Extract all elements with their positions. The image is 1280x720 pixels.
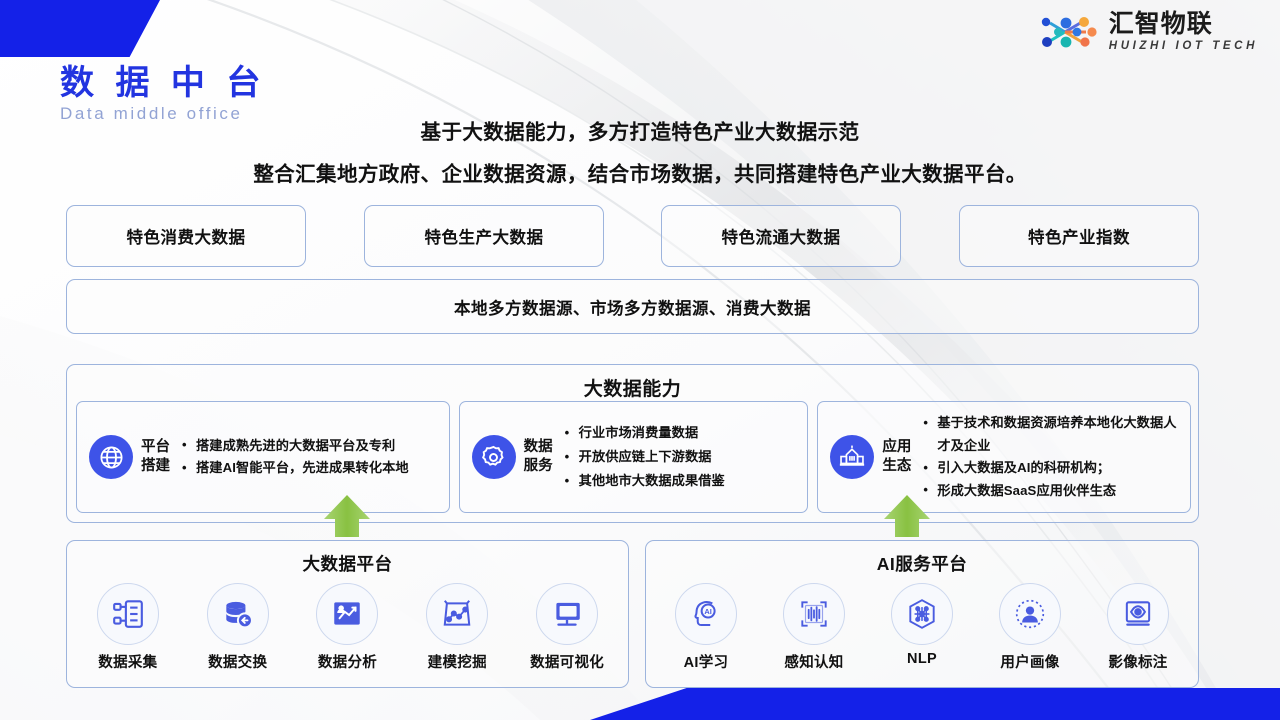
source-box-production[interactable]: 特色生产大数据 [364, 205, 604, 267]
capability-card-label-line1: 数据 [524, 438, 553, 457]
capability-bullet: 搭建AI智能平台，先进成果转化本地 [180, 457, 443, 480]
platform-item-label: 建模挖掘 [428, 651, 487, 672]
platform-item-data-collection[interactable]: 数据采集 [76, 583, 180, 672]
capability-card-label-line1: 应用 [882, 438, 911, 457]
data-visualization-icon [536, 583, 598, 645]
capability-section-title: 大数据能力 [67, 374, 1198, 401]
platform-panel-bigdata: 大数据平台 数据采集 [66, 540, 629, 688]
platform-title: 大数据平台 [67, 551, 628, 576]
capability-card-label: 平台 搭建 [141, 438, 170, 476]
capability-card-bullets: 搭建成熟先进的大数据平台及专利 搭建AI智能平台，先进成果转化本地 [180, 435, 443, 480]
platform-item-perception[interactable]: 感知认知 [762, 583, 866, 672]
datasource-bar[interactable]: 本地多方数据源、市场多方数据源、消费大数据 [66, 279, 1199, 334]
capability-bullet: 开放供应链上下游数据 [563, 445, 802, 469]
capability-card-label-line2: 服务 [524, 457, 553, 476]
datasource-bar-label: 本地多方数据源、市场多方数据源、消费大数据 [454, 295, 811, 319]
capability-card-data-service[interactable]: 数据 服务 行业市场消费量数据 开放供应链上下游数据 其他地市大数据成果借鉴 [459, 401, 809, 513]
green-arrow-right [884, 495, 930, 537]
platform-panel-ai: AI服务平台 AI AI学习 [645, 540, 1199, 688]
brand-logo: 汇智物联 HUIZHI IOT TECH [1038, 10, 1258, 54]
globe-icon [89, 435, 133, 479]
source-box-label: 特色流通大数据 [722, 224, 841, 248]
institution-icon [830, 435, 874, 479]
platform-item-data-analysis[interactable]: 数据分析 [295, 583, 399, 672]
platform-item-modeling-mining[interactable]: 建模挖掘 [405, 583, 509, 672]
source-box-circulation[interactable]: 特色流通大数据 [661, 205, 901, 267]
perception-icon [783, 583, 845, 645]
platform-icon-row: 数据采集 数据交换 [67, 583, 628, 672]
capability-card-platform[interactable]: 平台 搭建 搭建成熟先进的大数据平台及专利 搭建AI智能平台，先进成果转化本地 [76, 401, 450, 513]
ai-brain-icon: AI [675, 583, 737, 645]
capability-card-bullets: 行业市场消费量数据 开放供应链上下游数据 其他地市大数据成果借鉴 [563, 421, 802, 493]
data-exchange-icon [207, 583, 269, 645]
platform-item-label: NLP [907, 651, 937, 667]
data-collection-icon [97, 583, 159, 645]
brand-name-en: HUIZHI IOT TECH [1109, 38, 1258, 54]
modeling-mining-icon [426, 583, 488, 645]
capability-bullet: 其他地市大数据成果借鉴 [563, 469, 802, 493]
capability-bullet: 基于技术和数据资源培养本地化大数据人才及企业 [921, 412, 1184, 457]
platform-item-label: 数据交换 [208, 651, 267, 672]
image-labeling-icon [1107, 583, 1169, 645]
platform-item-user-profile[interactable]: 用户画像 [978, 583, 1082, 672]
platform-item-label: 用户画像 [1000, 651, 1059, 672]
capability-card-app-ecosystem[interactable]: 应用 生态 基于技术和数据资源培养本地化大数据人才及企业 引入大数据及AI的科研… [817, 401, 1191, 513]
source-box-label: 特色产业指数 [1028, 224, 1130, 248]
capability-bullet: 形成大数据SaaS应用伙伴生态 [921, 480, 1184, 503]
capability-card-label-line2: 生态 [882, 457, 911, 476]
headline-block: 基于大数据能力，多方打造特色产业大数据示范 整合汇集地方政府、企业数据资源，结合… [0, 117, 1280, 190]
page-title: 数 据 中 台 [60, 62, 266, 104]
platform-item-label: AI学习 [684, 651, 729, 672]
capability-card-bullets: 基于技术和数据资源培养本地化大数据人才及企业 引入大数据及AI的科研机构； 形成… [921, 412, 1184, 502]
capability-bullet: 搭建成熟先进的大数据平台及专利 [180, 435, 443, 458]
platform-item-data-visualization[interactable]: 数据可视化 [515, 583, 619, 672]
green-arrow-left [324, 495, 370, 537]
platform-item-nlp[interactable]: NLP [870, 583, 974, 667]
data-analysis-icon [316, 583, 378, 645]
platform-icon-row: AI AI学习 感知认知 [646, 583, 1198, 672]
user-profile-icon [999, 583, 1061, 645]
platform-item-ai-learning[interactable]: AI AI学习 [654, 583, 758, 672]
gear-icon [472, 435, 516, 479]
brand-name-cn: 汇智物联 [1109, 10, 1213, 38]
platform-item-label: 数据分析 [318, 651, 377, 672]
platform-item-data-exchange[interactable]: 数据交换 [186, 583, 290, 672]
bottom-right-accent-shape [590, 688, 1280, 720]
headline-line-1: 基于大数据能力，多方打造特色产业大数据示范 [0, 117, 1280, 148]
capability-card-label-line1: 平台 [141, 438, 170, 457]
page-title-block: 数 据 中 台 Data middle office [60, 62, 266, 125]
capability-card-label-line2: 搭建 [141, 457, 170, 476]
source-box-industry-index[interactable]: 特色产业指数 [959, 205, 1199, 267]
capability-section: 大数据能力 平台 搭建 搭建成熟先进的大数据平台及专利 搭建AI智能平台，先进成… [66, 364, 1199, 523]
source-box-label: 特色消费大数据 [127, 224, 246, 248]
platform-item-label: 数据采集 [98, 651, 157, 672]
platform-item-label: 影像标注 [1108, 651, 1167, 672]
capability-card-label: 应用 生态 [882, 438, 911, 476]
platform-item-label: 数据可视化 [530, 651, 604, 672]
source-box-label: 特色生产大数据 [425, 224, 544, 248]
capability-card-list: 平台 搭建 搭建成熟先进的大数据平台及专利 搭建AI智能平台，先进成果转化本地 … [76, 401, 1191, 513]
platform-title: AI服务平台 [646, 551, 1198, 576]
molecule-network-icon [1038, 12, 1100, 52]
source-box-consumption[interactable]: 特色消费大数据 [66, 205, 306, 267]
nlp-network-icon [891, 583, 953, 645]
platform-item-image-labeling[interactable]: 影像标注 [1086, 583, 1190, 672]
capability-bullet: 行业市场消费量数据 [563, 421, 802, 445]
capability-card-label: 数据 服务 [524, 438, 553, 476]
svg-text:AI: AI [704, 607, 711, 616]
capability-bullet: 引入大数据及AI的科研机构； [921, 457, 1184, 480]
headline-line-2: 整合汇集地方政府、企业数据资源，结合市场数据，共同搭建特色产业大数据平台。 [0, 159, 1280, 190]
platform-item-label: 感知认知 [784, 651, 843, 672]
brand-text: 汇智物联 HUIZHI IOT TECH [1109, 10, 1258, 54]
